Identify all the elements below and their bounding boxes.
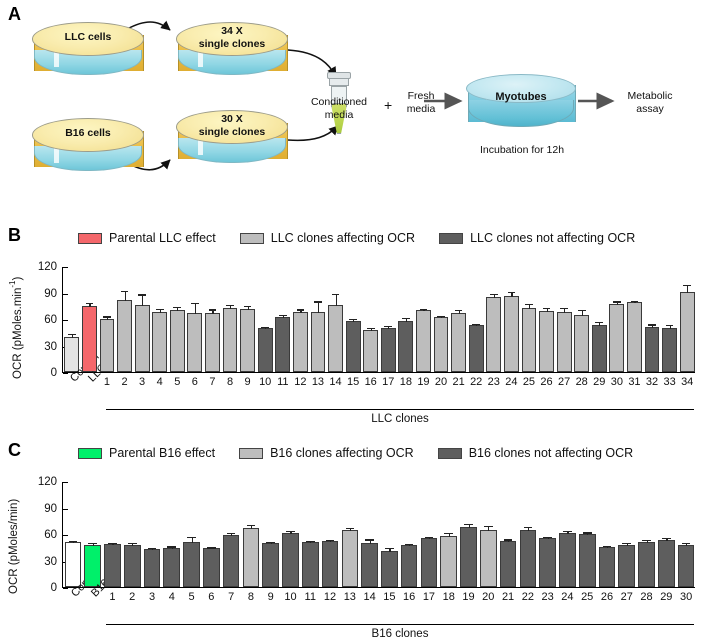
error-bar-cap	[346, 528, 355, 529]
x-tick-10: 10	[282, 591, 299, 603]
panel-c-group-rule	[106, 624, 694, 625]
x-tick-26: 26	[599, 591, 616, 603]
bar-25	[522, 308, 537, 372]
bar-24	[504, 296, 519, 372]
bar-28	[574, 315, 589, 372]
error-bar-cap	[279, 315, 287, 316]
error-bar-cap	[563, 531, 572, 532]
x-tick-9: 9	[262, 591, 279, 603]
x-tick-11: 11	[275, 376, 290, 388]
bar-2	[124, 545, 141, 587]
error-bar-cap	[525, 304, 533, 305]
error-bar-cap	[365, 539, 374, 540]
error-bar-cap	[405, 544, 414, 545]
bar-8	[243, 528, 260, 587]
bar-29	[658, 540, 675, 587]
bar-7	[223, 535, 240, 587]
x-tick-20: 20	[434, 376, 449, 388]
error-bar-cap	[173, 307, 181, 308]
error-bar-cap	[484, 526, 493, 527]
x-tick-16: 16	[363, 376, 378, 388]
error-bar-stem	[142, 294, 143, 305]
bar-28	[638, 542, 655, 587]
error-bar-cap	[543, 308, 551, 309]
legend-swatch-icon	[438, 448, 462, 459]
dish-label: 34 Xsingle clones	[176, 25, 288, 49]
error-bar-cap	[226, 305, 234, 306]
x-tick-24: 24	[504, 376, 519, 388]
x-tick-32: 32	[645, 376, 660, 388]
bar-19	[460, 527, 477, 587]
x-tick-10: 10	[258, 376, 273, 388]
bar-27	[557, 312, 572, 372]
x-tick-23: 23	[539, 591, 556, 603]
panel-b-group-label: LLC clones	[106, 413, 694, 425]
error-bar-cap	[425, 537, 434, 538]
legend-item-2: B16 clones not affecting OCR	[438, 446, 633, 460]
y-tick-90: 90	[44, 503, 63, 515]
legend-item-2: LLC clones not affecting OCR	[439, 231, 635, 245]
bar-12	[322, 541, 339, 587]
bar-13	[311, 312, 326, 372]
error-bar-cap	[207, 547, 216, 548]
bar-31	[627, 302, 642, 372]
bar-21	[451, 313, 466, 372]
error-bar-cap	[367, 328, 375, 329]
b16-cells-dish: B16 cells	[32, 118, 144, 176]
x-tick-6: 6	[203, 591, 220, 603]
legend-label: Parental LLC effect	[109, 231, 216, 245]
legend-item-1: B16 clones affecting OCR	[239, 446, 414, 460]
x-tick-14: 14	[361, 591, 378, 603]
x-tick-4: 4	[163, 591, 180, 603]
bar-6	[203, 548, 220, 587]
legend-label: Parental B16 effect	[109, 446, 215, 460]
y-tick-60: 60	[44, 314, 63, 326]
legend-swatch-icon	[78, 448, 102, 459]
panel-b-y-axis-label: OCR (pMoles.min-1)	[8, 261, 24, 379]
bar-22	[469, 325, 484, 372]
x-tick-12: 12	[322, 591, 339, 603]
error-bar-cap	[138, 294, 146, 295]
bar-16	[363, 330, 378, 372]
error-bar-cap	[508, 292, 516, 293]
x-tick-16: 16	[401, 591, 418, 603]
panel-a-workflow-diagram: A LLC cells 34 Xsingle clones B16 cells …	[0, 0, 708, 205]
x-tick-25: 25	[522, 376, 537, 388]
x-tick-5: 5	[183, 591, 200, 603]
error-bar-cap	[384, 326, 392, 327]
error-bar-cap	[472, 324, 480, 325]
bar-26	[539, 311, 554, 372]
error-bar-cap	[603, 546, 612, 547]
x-tick-1: 1	[104, 591, 121, 603]
error-bar-cap	[306, 541, 315, 542]
x-tick-28: 28	[574, 376, 589, 388]
error-bar-cap	[402, 318, 410, 319]
panel-c-plot-area: 0306090120ControlB1612345678910111213141…	[62, 482, 695, 588]
error-bar-cap	[543, 537, 552, 538]
x-tick-24: 24	[559, 591, 576, 603]
bar-15	[346, 321, 361, 372]
legend-swatch-icon	[78, 233, 102, 244]
dish-base	[468, 100, 574, 127]
bar-17	[381, 328, 396, 372]
bar-14	[328, 305, 343, 372]
bar-30	[678, 545, 695, 587]
fresh-media-label: Freshmedia	[394, 90, 448, 115]
bar-29	[592, 325, 607, 372]
error-bar-cap	[156, 309, 164, 310]
incubation-label: Incubation for 12h	[460, 144, 584, 157]
bar-17	[421, 538, 438, 587]
panel-b-legend: Parental LLC effectLLC clones affecting …	[78, 231, 635, 245]
error-bar-cap	[583, 532, 592, 533]
y-tick-0: 0	[51, 367, 63, 379]
y-tick-120: 120	[38, 476, 63, 488]
error-bar-cap	[648, 324, 656, 325]
x-tick-29: 29	[592, 376, 607, 388]
error-bar-cap	[128, 543, 137, 544]
panel-b-letter: B	[8, 225, 21, 246]
panel-b-plot-area: 0306090120ControlLLC12345678910111213141…	[62, 267, 695, 373]
panel-a-letter: A	[8, 4, 21, 25]
panel-c-chart: C Parental B16 effectB16 clones affectin…	[0, 440, 708, 644]
error-bar-cap	[662, 538, 671, 539]
error-bar-stem	[336, 294, 337, 306]
error-bar-cap	[666, 325, 674, 326]
bar-7	[205, 313, 220, 372]
legend-label: B16 clones not affecting OCR	[469, 446, 633, 460]
x-tick-31: 31	[627, 376, 642, 388]
bar-15	[381, 551, 398, 587]
error-bar-cap	[444, 533, 453, 534]
x-tick-8: 8	[223, 376, 238, 388]
error-bar-cap	[490, 294, 498, 295]
error-bar-cap	[209, 309, 217, 310]
error-bar-stem	[195, 303, 196, 314]
x-tick-17: 17	[381, 376, 396, 388]
panel-b-group-rule	[106, 409, 694, 410]
legend-swatch-icon	[439, 233, 463, 244]
bar-23	[539, 538, 556, 587]
x-tick-2: 2	[117, 376, 132, 388]
bar-9	[240, 309, 255, 372]
bar-16	[401, 545, 418, 587]
bar-25	[579, 534, 596, 587]
x-tick-15: 15	[346, 376, 361, 388]
bar-1	[100, 319, 115, 372]
error-bar-cap	[560, 308, 568, 309]
error-bar-cap	[297, 309, 305, 310]
bar-32	[645, 327, 660, 372]
bar-21	[500, 541, 517, 587]
error-bar-cap	[437, 316, 445, 317]
error-bar-cap	[86, 303, 94, 304]
legend-label: B16 clones affecting OCR	[270, 446, 414, 460]
bar-34	[680, 292, 695, 372]
x-tick-27: 27	[557, 376, 572, 388]
legend-item-0: Parental B16 effect	[78, 446, 215, 460]
error-bar-cap	[227, 533, 236, 534]
dish-label: 30 Xsingle clones	[176, 113, 288, 137]
x-tick-28: 28	[638, 591, 655, 603]
x-tick-1: 1	[100, 376, 115, 388]
error-bar-cap	[261, 327, 269, 328]
x-tick-22: 22	[469, 376, 484, 388]
panel-c-letter: C	[8, 440, 21, 461]
llc-clones-dish: 34 Xsingle clones	[176, 22, 288, 80]
panel-c-legend: Parental B16 effectB16 clones affecting …	[78, 446, 633, 460]
bar-llc	[82, 306, 97, 372]
bar-11	[275, 317, 290, 372]
error-bar-cap	[504, 539, 513, 540]
x-tick-27: 27	[618, 591, 635, 603]
x-tick-9: 9	[240, 376, 255, 388]
error-bar-cap	[420, 309, 428, 310]
x-tick-7: 7	[205, 376, 220, 388]
bar-8	[223, 308, 238, 372]
x-tick-26: 26	[539, 376, 554, 388]
bar-9	[262, 543, 279, 587]
x-tick-13: 13	[342, 591, 359, 603]
conditioned-media-label: Conditionedmedia	[296, 96, 382, 121]
error-bar-cap	[385, 548, 394, 549]
bar-33	[662, 328, 677, 372]
error-bar-cap	[455, 310, 463, 311]
error-bar-cap	[68, 334, 76, 335]
x-tick-23: 23	[486, 376, 501, 388]
x-tick-30: 30	[609, 376, 624, 388]
dish-label: B16 cells	[32, 127, 144, 139]
bar-10	[282, 533, 299, 587]
llc-cells-dish: LLC cells	[32, 22, 144, 80]
error-bar-cap	[578, 310, 586, 311]
x-tick-29: 29	[658, 591, 675, 603]
error-bar-cap	[103, 316, 111, 317]
error-bar-cap	[464, 524, 473, 525]
bar-3	[144, 549, 161, 587]
x-tick-7: 7	[223, 591, 240, 603]
x-tick-8: 8	[243, 591, 260, 603]
bar-24	[559, 533, 576, 587]
x-tick-11: 11	[302, 591, 319, 603]
panel-c-y-axis-label: OCR (pMoles/min)	[8, 476, 20, 594]
error-bar-cap	[244, 306, 252, 307]
bar-4	[163, 548, 180, 587]
x-tick-15: 15	[381, 591, 398, 603]
error-bar-cap	[121, 291, 129, 292]
x-tick-17: 17	[421, 591, 438, 603]
error-bar-cap	[524, 527, 533, 528]
error-bar-cap	[326, 540, 335, 541]
x-tick-13: 13	[311, 376, 326, 388]
b16-clones-dish: 30 Xsingle clones	[176, 110, 288, 168]
error-bar-cap	[266, 542, 275, 543]
myotubes-dish: Myotubes	[466, 74, 576, 130]
bar-23	[486, 297, 501, 372]
error-bar-cap	[191, 303, 199, 304]
x-tick-6: 6	[187, 376, 202, 388]
x-tick-3: 3	[135, 376, 150, 388]
bar-26	[599, 547, 616, 587]
bar-22	[520, 530, 537, 587]
bar-3	[135, 305, 150, 372]
legend-label: LLC clones affecting OCR	[271, 231, 415, 245]
y-tick-90: 90	[44, 288, 63, 300]
x-tick-14: 14	[328, 376, 343, 388]
x-tick-4: 4	[152, 376, 167, 388]
panel-c-group-label: B16 clones	[106, 628, 694, 640]
bar-19	[416, 310, 431, 372]
error-bar-cap	[622, 543, 631, 544]
bar-2	[117, 300, 132, 372]
error-bar-cap	[148, 548, 157, 549]
error-bar-cap	[613, 301, 621, 302]
y-tick-0: 0	[51, 582, 63, 594]
bar-5	[183, 542, 200, 587]
x-tick-19: 19	[416, 376, 431, 388]
bar-13	[342, 530, 359, 587]
bar-20	[434, 317, 449, 372]
x-tick-12: 12	[293, 376, 308, 388]
bar-27	[618, 545, 635, 587]
legend-item-0: Parental LLC effect	[78, 231, 216, 245]
error-bar-cap	[314, 301, 322, 302]
error-bar-cap	[683, 285, 691, 286]
dish-label: Myotubes	[466, 91, 576, 103]
x-tick-33: 33	[662, 376, 677, 388]
error-bar-cap	[108, 543, 117, 544]
error-bar-cap	[642, 540, 651, 541]
bar-1	[104, 544, 121, 587]
error-bar-cap	[286, 531, 295, 532]
error-bar-cap	[595, 322, 603, 323]
bar-18	[398, 321, 413, 372]
bar-4	[152, 312, 167, 372]
panel-b-chart: B Parental LLC effectLLC clones affectin…	[0, 225, 708, 435]
error-bar-stem	[318, 301, 319, 312]
bar-11	[302, 542, 319, 587]
x-tick-5: 5	[170, 376, 185, 388]
legend-swatch-icon	[240, 233, 264, 244]
bar-30	[609, 304, 624, 372]
x-tick-34: 34	[680, 376, 695, 388]
legend-label: LLC clones not affecting OCR	[470, 231, 635, 245]
error-bar-cap	[88, 543, 97, 544]
error-bar-stem	[687, 285, 688, 293]
legend-item-1: LLC clones affecting OCR	[240, 231, 415, 245]
x-tick-18: 18	[440, 591, 457, 603]
x-tick-30: 30	[678, 591, 695, 603]
x-tick-22: 22	[520, 591, 537, 603]
dish-label: LLC cells	[32, 31, 144, 43]
error-bar-stem	[125, 291, 126, 302]
bar-6	[187, 313, 202, 372]
y-tick-120: 120	[38, 261, 63, 273]
x-tick-20: 20	[480, 591, 497, 603]
metabolic-assay-label: Metabolicassay	[610, 90, 690, 115]
x-tick-3: 3	[144, 591, 161, 603]
x-tick-21: 21	[451, 376, 466, 388]
error-bar-cap	[631, 301, 639, 302]
bar-12	[293, 312, 308, 372]
error-bar-cap	[69, 541, 78, 542]
y-tick-30: 30	[44, 341, 63, 353]
x-tick-25: 25	[579, 591, 596, 603]
error-bar-cap	[187, 537, 196, 538]
legend-swatch-icon	[239, 448, 263, 459]
bar-5	[170, 310, 185, 372]
x-tick-21: 21	[500, 591, 517, 603]
x-tick-19: 19	[460, 591, 477, 603]
y-tick-60: 60	[44, 529, 63, 541]
bar-20	[480, 530, 497, 587]
error-bar-cap	[167, 546, 176, 547]
bar-18	[440, 536, 457, 587]
error-bar-cap	[682, 543, 691, 544]
error-bar-cap	[349, 319, 357, 320]
x-tick-18: 18	[398, 376, 413, 388]
y-tick-30: 30	[44, 556, 63, 568]
error-bar-cap	[332, 294, 340, 295]
bar-10	[258, 328, 273, 372]
plus-sign: +	[384, 97, 392, 113]
error-bar-cap	[247, 525, 256, 526]
bar-14	[361, 543, 378, 587]
x-tick-2: 2	[124, 591, 141, 603]
